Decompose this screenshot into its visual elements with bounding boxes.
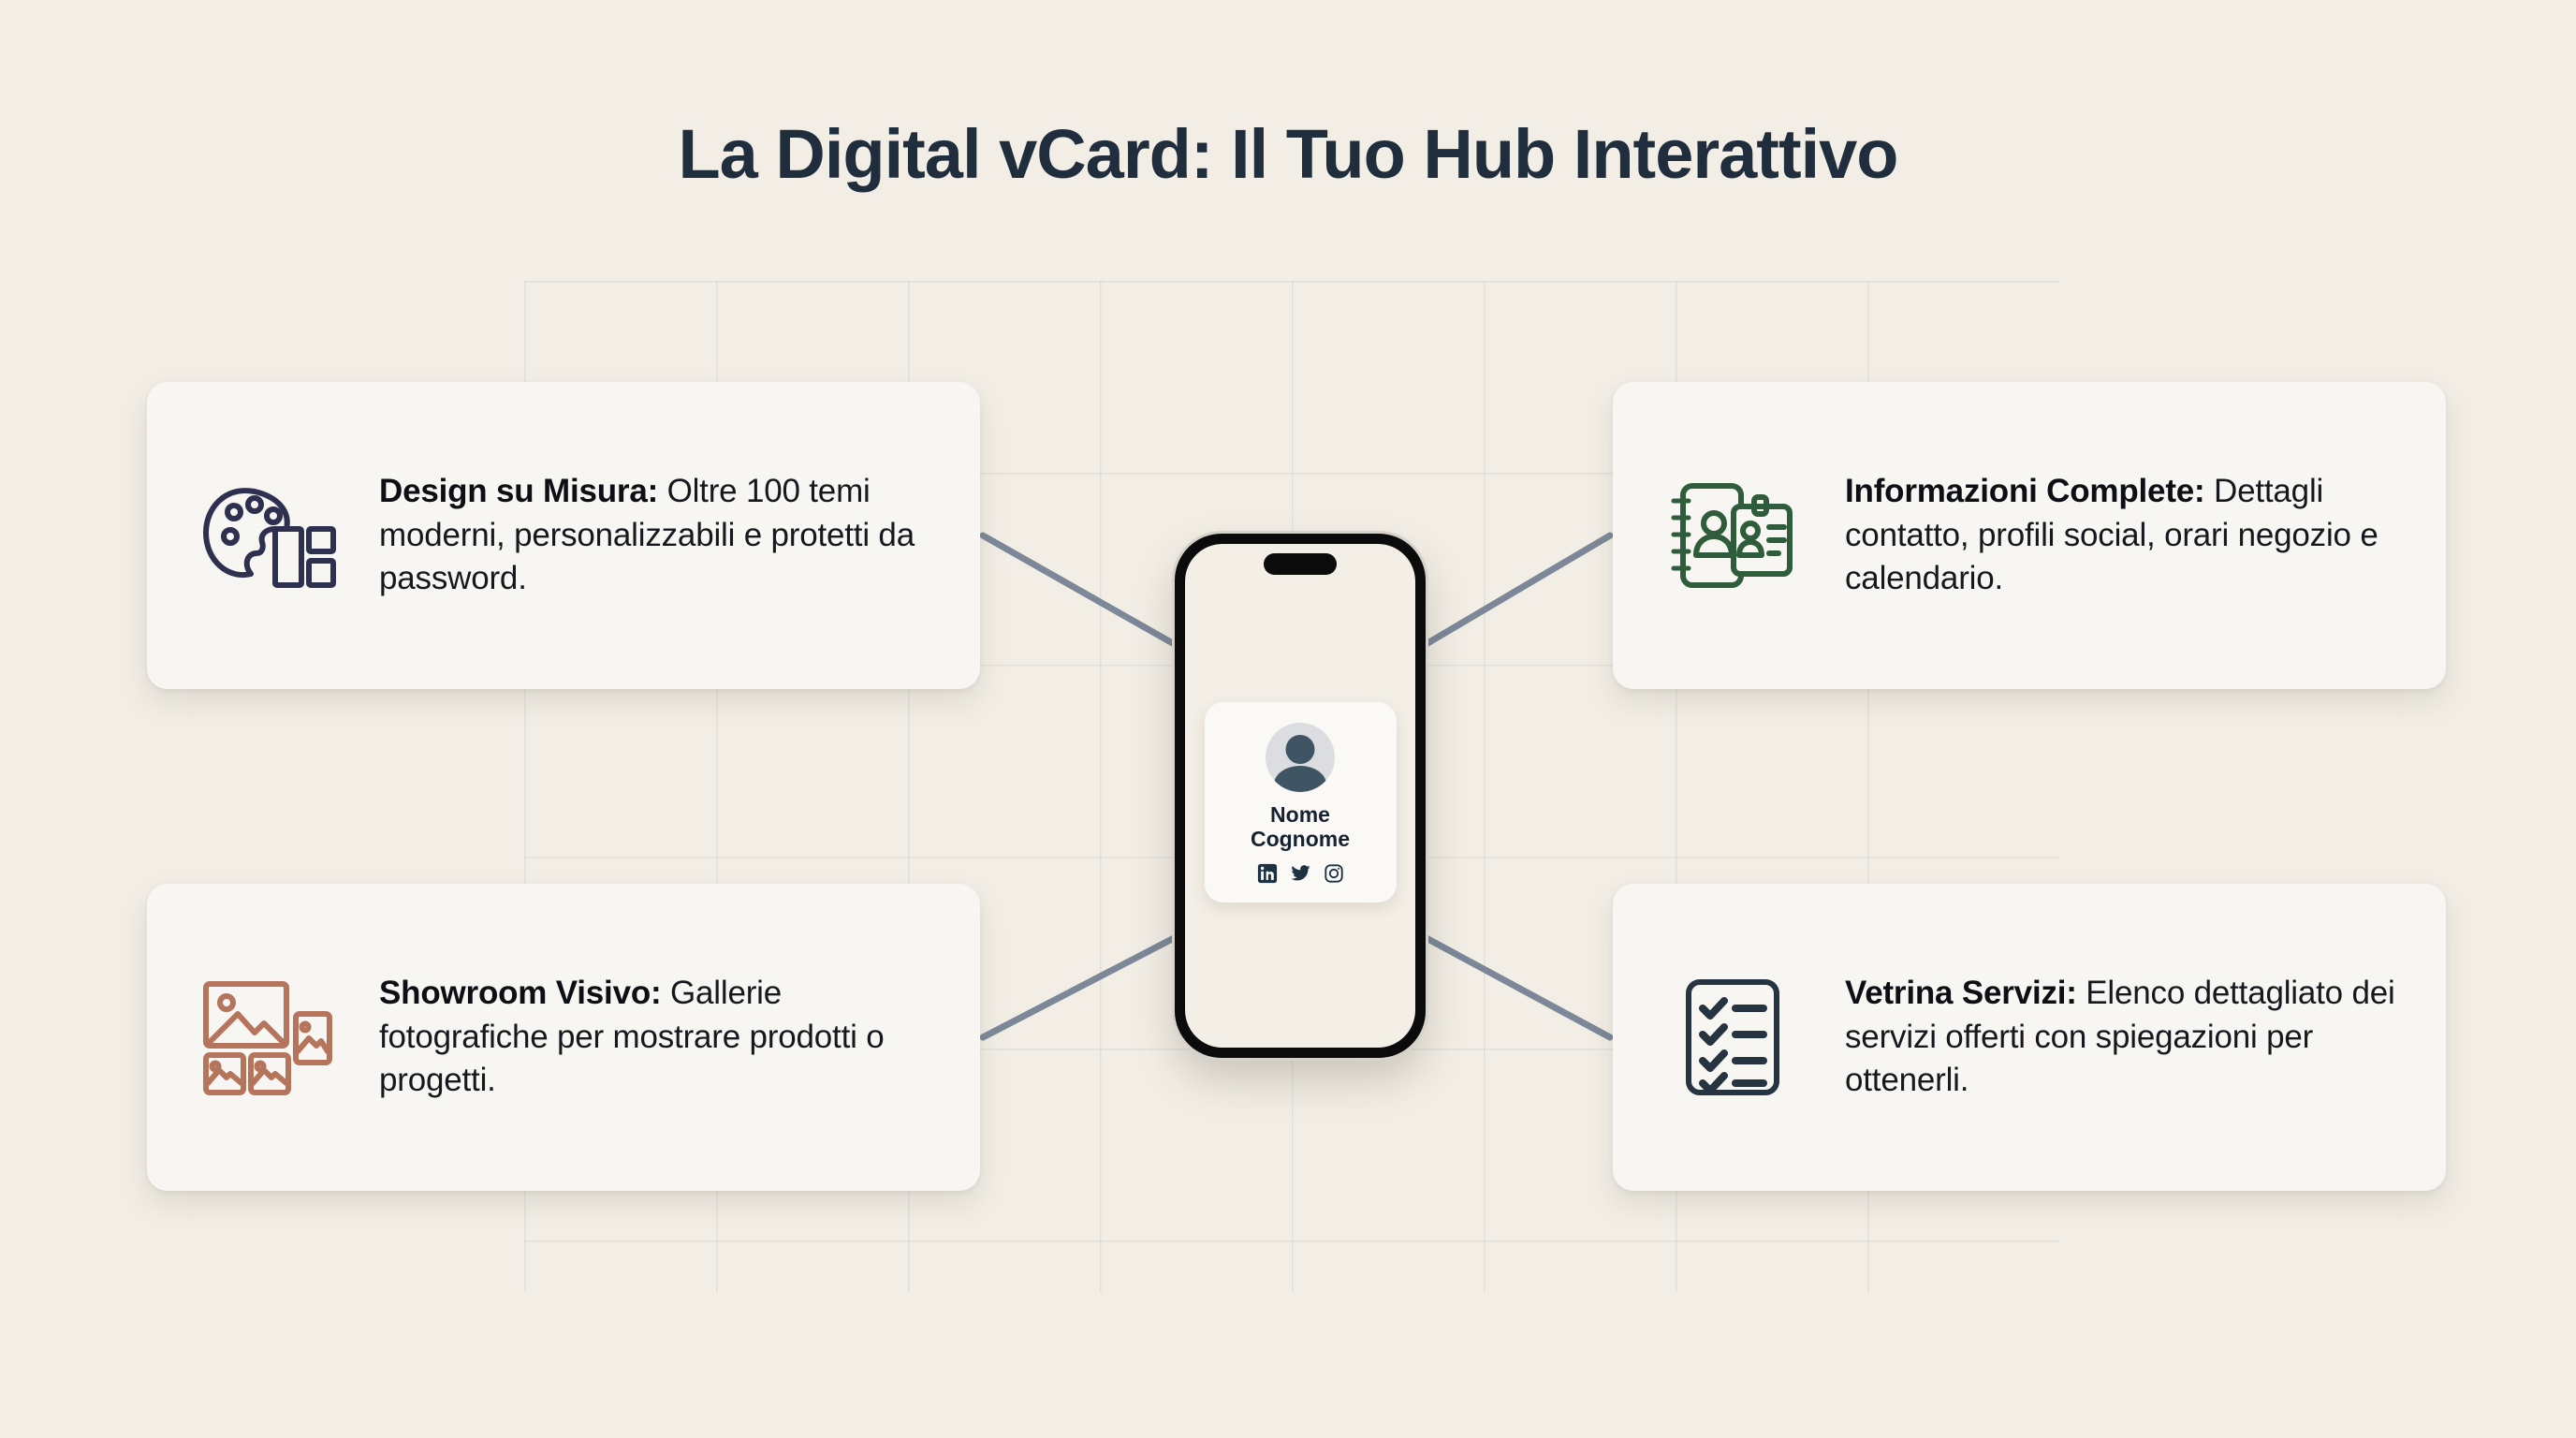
vcard-name-last: Cognome <box>1251 828 1350 851</box>
feature-card-heading: Design su Misura: <box>379 473 658 509</box>
instagram-icon[interactable] <box>1324 863 1344 884</box>
feature-card-heading: Vetrina Servizi: <box>1845 975 2077 1011</box>
feature-card-servizi[interactable]: Vetrina Servizi: Elenco dettagliato dei … <box>1613 884 2446 1191</box>
vcard-name-first: Nome <box>1270 803 1330 827</box>
feature-card-heading: Showroom Visivo: <box>379 975 661 1011</box>
phone-mockup: Nome Cognome <box>1175 534 1426 1058</box>
user-avatar-icon <box>1266 723 1335 792</box>
social-links <box>1257 863 1344 884</box>
vcard-preview[interactable]: Nome Cognome <box>1205 702 1397 902</box>
feature-card-text: Vetrina Servizi: Elenco dettagliato dei … <box>1845 972 2405 1104</box>
dynamic-island <box>1264 553 1337 575</box>
twitter-icon[interactable] <box>1290 863 1311 884</box>
feature-card-showroom[interactable]: Showroom Visivo: Gallerie fotografiche p… <box>147 884 980 1191</box>
feature-card-design[interactable]: Design su Misura: Oltre 100 temi moderni… <box>147 382 980 689</box>
linkedin-icon[interactable] <box>1257 863 1278 884</box>
palette-layout-icon <box>188 475 345 596</box>
feature-card-info[interactable]: Informazioni Complete: Dettagli contatto… <box>1613 382 2446 689</box>
checklist-icon <box>1654 976 1811 1098</box>
phone-screen: Nome Cognome <box>1185 544 1415 1048</box>
connector-info-to-phone <box>1423 536 1610 646</box>
connector-showroom-to-phone <box>983 936 1178 1037</box>
feature-card-heading: Informazioni Complete: <box>1845 473 2205 509</box>
feature-card-text: Informazioni Complete: Dettagli contatto… <box>1845 470 2405 602</box>
address-book-badge-icon <box>1654 475 1811 596</box>
feature-card-text: Showroom Visivo: Gallerie fotografiche p… <box>379 972 939 1104</box>
feature-card-text: Design su Misura: Oltre 100 temi moderni… <box>379 470 939 602</box>
connector-servizi-to-phone <box>1423 936 1610 1037</box>
photo-gallery-icon <box>188 976 345 1098</box>
connector-design-to-phone <box>983 536 1178 646</box>
